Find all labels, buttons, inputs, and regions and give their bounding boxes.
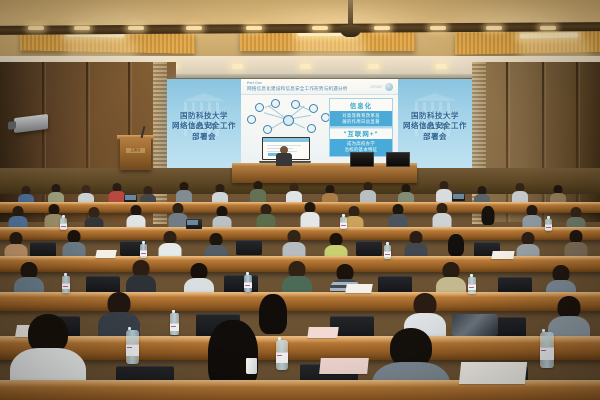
water-bottle [126,330,139,364]
network-topology-diagram [247,99,329,141]
laptop-device [124,194,137,202]
water-bottle [384,245,391,259]
speaker-podium: 主席台 [120,138,151,170]
notebook [459,362,527,384]
water-bottle [545,219,552,231]
attendee [404,231,427,259]
slide-logo-label: CERNET [370,85,383,89]
paper-cup [246,358,257,374]
panel-2-heading: "互联网+" [330,127,392,139]
attendee [388,204,407,228]
attendee [176,182,192,202]
slide-header: Part One 网络信息化建设和信息安全工作形势与机遇分析 CERNET [241,79,398,95]
audience-seating [0,180,600,400]
attendee [282,230,305,258]
water-bottle [276,340,288,370]
attendee [158,231,181,259]
recessed-downlight [368,64,379,69]
paper-handout [95,250,117,258]
paper-handout [491,251,514,259]
projection-screen: 国防科技大学2017年 网络信息安全工作部署会 Part One 网络信息化建设… [167,79,472,171]
attendee [62,230,85,258]
recessed-downlight [300,64,311,69]
pendant-fixture [340,25,361,37]
panel-1-line-2: 展的作用日益显著 [331,119,391,125]
slide-content: Part One 网络信息化建设和信息安全工作形势与机遇分析 CERNET [241,79,398,171]
recessed-downlight [436,64,447,69]
banner-line-2: 网络信息安全工作部署会 [402,120,468,142]
attendee [300,202,319,226]
water-bottle [140,244,147,258]
paper-handout [345,284,373,293]
network-node [247,115,256,124]
chair-back [30,242,56,257]
network-node [307,124,316,133]
podium-nameplate: 主席台 [126,148,145,153]
attendee [126,205,145,229]
water-bottle [60,218,67,230]
slide-title: 网络信息化建设和信息安全工作形势与机遇分析 [247,86,348,92]
conference-hall-photo: 国防科技大学2017年 网络信息安全工作部署会 Part One 网络信息化建设… [0,0,600,400]
attendee [48,184,64,204]
panel-1-heading: 信息化 [330,99,392,111]
laptop-device [186,219,202,229]
water-bottle [244,275,252,292]
desk-row [0,336,600,360]
laptop-device [452,193,465,201]
attendee [436,181,452,201]
water-bottle [62,276,70,293]
attendee [432,203,451,227]
paper-handout [319,358,369,374]
beam-light-strip [0,24,600,33]
slide-panel-1: 信息化 对高等教育改革发 展的作用日益显著 [329,98,393,129]
attendee [256,204,275,228]
network-node [283,115,294,126]
attendee [512,183,528,203]
water-bottle [468,277,476,294]
attendee [398,184,414,204]
paper-handout [307,327,339,338]
water-bottle [340,217,347,229]
attendee [212,184,228,204]
desk-row [0,292,600,311]
network-node [309,104,318,113]
attendee [168,203,187,227]
slide-kicker: Part One [247,81,262,85]
attendee [564,230,587,258]
attendee [108,183,125,204]
chair-back [356,241,382,256]
stage-monitor [350,152,374,167]
attendee [360,182,376,202]
presenter-at-head-table [276,146,292,166]
pendant-rod [348,0,353,28]
network-node [271,99,280,108]
network-node [263,125,272,134]
attendee [286,183,302,203]
attendee [522,205,541,229]
banner-line-2: 网络信息安全工作部署会 [171,120,237,142]
network-node [291,100,300,109]
network-node [255,103,264,112]
chair-back [236,240,262,255]
screen-banner-left: 国防科技大学2017年 网络信息安全工作部署会 [167,79,241,171]
water-bottle [540,332,554,368]
globe-icon [385,83,393,91]
attendee [250,181,266,201]
recessed-downlight [232,64,243,69]
water-bottle [170,313,179,335]
stage-monitor [386,152,410,167]
shoulder-bag [452,314,498,336]
